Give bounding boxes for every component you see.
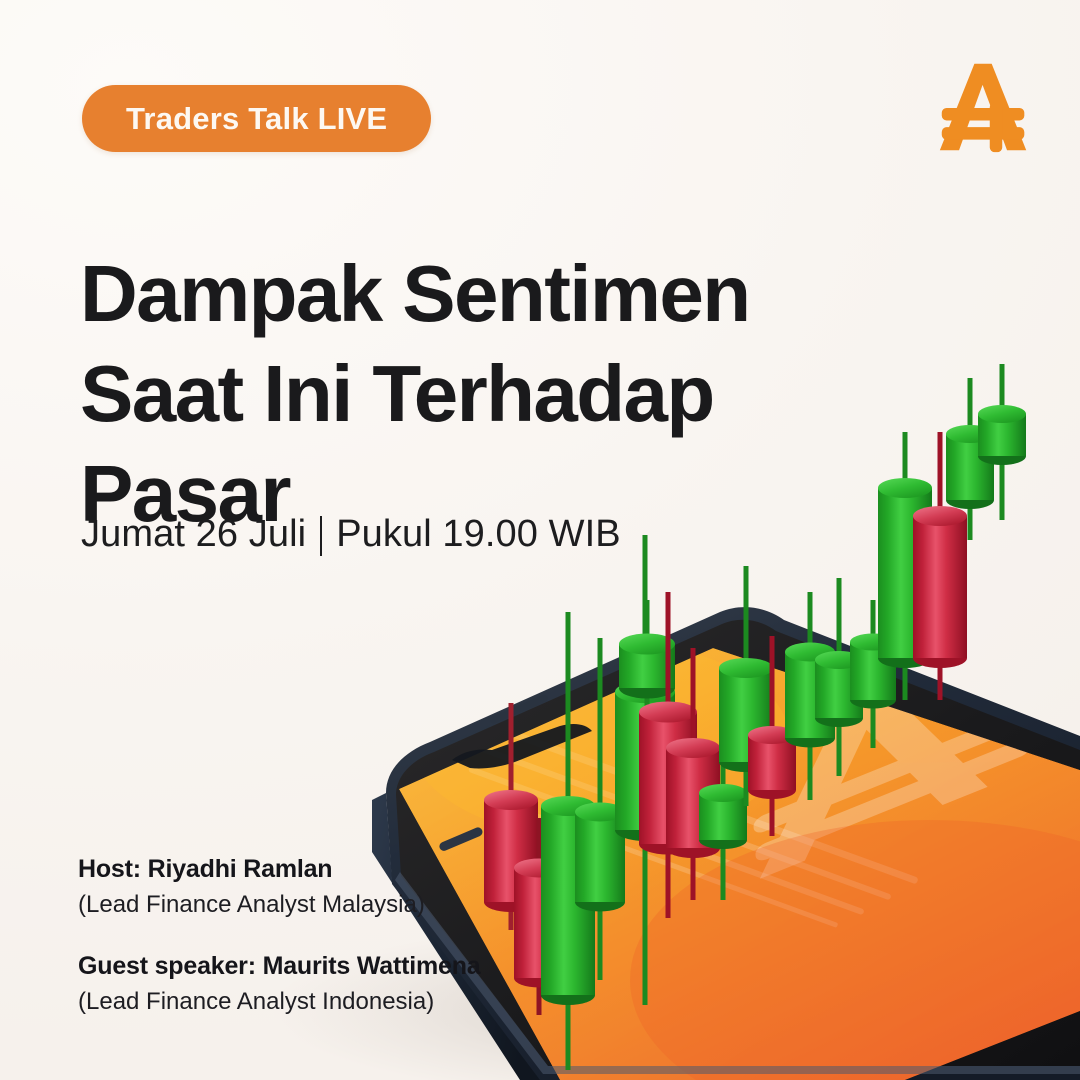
candle-5 <box>615 535 675 1005</box>
screen-logo-watermark <box>748 636 1033 880</box>
live-badge[interactable]: Traders Talk LIVE <box>82 85 431 152</box>
credits-block: Host: Riyadhi Ramlan (Lead Finance Analy… <box>78 853 548 1018</box>
phone-side-button <box>438 826 484 852</box>
credit-guest: Guest speaker: Maurits Wattimena (Lead F… <box>78 950 548 1018</box>
candle-14 <box>850 600 896 748</box>
candle-11 <box>748 636 796 836</box>
candle-18 <box>978 364 1026 520</box>
schedule-time: Pukul 19.00 WIB <box>336 513 621 556</box>
candle-9 <box>699 703 747 900</box>
live-badge-label: Traders Talk LIVE <box>126 101 387 137</box>
credit-guest-name: Guest speaker: Maurits Wattimena <box>78 950 548 983</box>
candle-13 <box>815 578 863 776</box>
poster-canvas: Traders Talk LIVE Dampak Sentimen Saat I… <box>0 0 1080 1080</box>
credit-host: Host: Riyadhi Ramlan (Lead Finance Analy… <box>78 853 548 921</box>
candle-4 <box>575 638 625 980</box>
schedule-separator <box>320 516 322 556</box>
headline-line-1: Dampak Sentimen <box>80 244 820 344</box>
candle-7 <box>639 592 697 918</box>
candle-10 <box>719 566 773 806</box>
credit-guest-role: (Lead Finance Analyst Indonesia) <box>78 986 548 1018</box>
candle-12 <box>785 592 835 800</box>
candle-15 <box>878 432 932 700</box>
credit-host-role: (Lead Finance Analyst Malaysia) <box>78 889 548 921</box>
schedule-date: Jumat 26 Juli <box>81 513 306 556</box>
candle-3 <box>541 612 595 1070</box>
phone-speaker <box>489 694 549 725</box>
candle-8 <box>666 648 720 900</box>
candle-16 <box>913 432 967 700</box>
phone-notch <box>452 724 592 769</box>
page-title: Dampak Sentimen Saat Ini Terhadap Pasar <box>80 244 820 545</box>
candle-17 <box>946 378 994 540</box>
schedule-line: Jumat 26 Juli Pukul 19.00 WIB <box>81 513 621 556</box>
candle-6 <box>619 600 675 760</box>
credit-host-name: Host: Riyadhi Ramlan <box>78 853 548 886</box>
headline-line-2: Saat Ini Terhadap <box>80 344 820 444</box>
octa-a-logo <box>936 58 1032 156</box>
